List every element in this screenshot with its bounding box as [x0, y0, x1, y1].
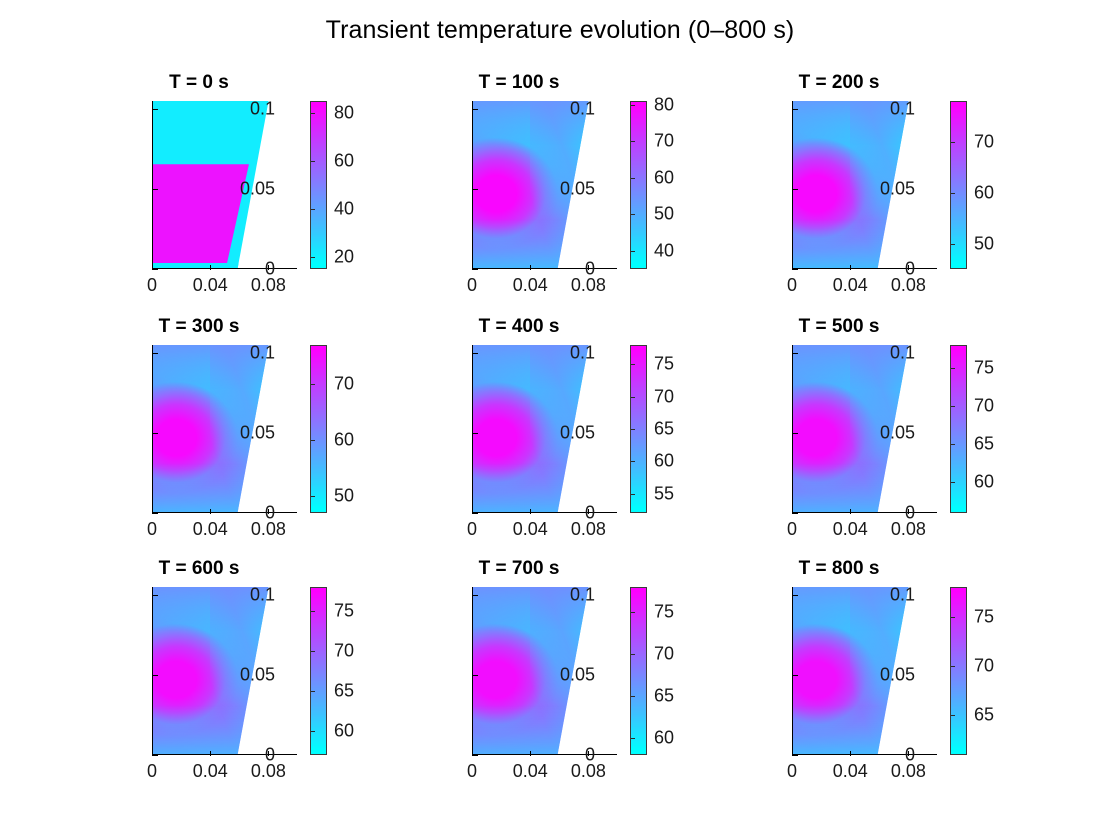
- subplot-panel-700s: T = 700 s00.040.0800.050.160657075: [420, 558, 720, 788]
- subplot-title: T = 0 s: [100, 72, 298, 94]
- x-tick-label: 0: [467, 275, 477, 296]
- y-tick-label: 0.1: [250, 343, 275, 364]
- y-axis-line: [472, 345, 473, 513]
- y-tick: [793, 755, 798, 756]
- y-tick-label: 0.05: [880, 179, 915, 200]
- y-tick-label: 0.1: [570, 343, 595, 364]
- y-tick-label: 0: [585, 503, 595, 524]
- axes-800s: 00.040.0800.050.1: [792, 587, 923, 755]
- y-tick-label: 0.1: [570, 99, 595, 120]
- colorbar-tick: [311, 496, 315, 497]
- y-axis-line: [792, 587, 793, 755]
- subplot-title: T = 300 s: [100, 316, 298, 338]
- colorbar-tick: [311, 731, 315, 732]
- colorbar-tick: [311, 611, 315, 612]
- y-tick: [153, 755, 158, 756]
- y-tick-label: 0: [905, 745, 915, 766]
- colorbar-tick-label: 50: [974, 233, 994, 254]
- colorbar-tick-label: 60: [654, 167, 674, 188]
- y-tick-label: 0.05: [560, 665, 595, 686]
- x-tick-label: 0.04: [513, 761, 548, 782]
- y-tick-label: 0.05: [880, 423, 915, 444]
- y-tick: [473, 433, 478, 434]
- x-axis-line: [152, 268, 297, 269]
- colorbar-tick-label: 80: [334, 103, 354, 124]
- subplot-title: T = 600 s: [100, 558, 298, 580]
- subplot-panel-500s: T = 500 s00.040.0800.050.160657075: [740, 316, 1040, 546]
- axes-300s: 00.040.0800.050.1: [152, 345, 283, 513]
- y-axis-line: [792, 101, 793, 269]
- x-tick-label: 0: [787, 275, 797, 296]
- colorbar-tick: [631, 696, 635, 697]
- y-tick: [153, 269, 158, 270]
- colorbar-tick-label: 70: [654, 131, 674, 152]
- colorbar-tick-label: 60: [974, 182, 994, 203]
- subplot-panel-0s: T = 0 s00.040.0800.050.120406080: [100, 72, 400, 302]
- x-tick: [210, 509, 211, 514]
- y-axis-line: [472, 101, 473, 269]
- x-axis-line: [472, 512, 617, 513]
- subplot-panel-100s: T = 100 s00.040.0800.050.14050607080: [420, 72, 720, 302]
- y-tick-label: 0.05: [240, 423, 275, 444]
- colorbar-tick: [311, 691, 315, 692]
- y-axis-line: [472, 587, 473, 755]
- colorbar-tick: [951, 244, 955, 245]
- colorbar-tick-label: 70: [334, 641, 354, 662]
- colorbar-tick-label: 75: [654, 354, 674, 375]
- axes-100s: 00.040.0800.050.1: [472, 101, 603, 269]
- y-tick: [153, 109, 158, 110]
- x-tick-label: 0: [787, 761, 797, 782]
- x-tick: [530, 751, 531, 756]
- y-tick: [793, 189, 798, 190]
- colorbar-tick: [631, 397, 635, 398]
- y-tick-label: 0.05: [240, 665, 275, 686]
- colorbar-tick: [311, 257, 315, 258]
- colorbar-500s: [950, 345, 967, 513]
- colorbar-tick-label: 70: [974, 131, 994, 152]
- colorbar-100s: [630, 101, 647, 269]
- colorbar-tick: [951, 193, 955, 194]
- y-tick: [473, 513, 478, 514]
- y-tick-label: 0.1: [890, 585, 915, 606]
- y-tick: [473, 269, 478, 270]
- x-tick: [530, 509, 531, 514]
- y-tick-label: 0: [905, 503, 915, 524]
- y-tick: [793, 353, 798, 354]
- subplot-panel-600s: T = 600 s00.040.0800.050.160657075: [100, 558, 400, 788]
- colorbar-tick-label: 70: [334, 374, 354, 395]
- colorbar-tick-label: 65: [334, 681, 354, 702]
- colorbar-tick-label: 75: [654, 602, 674, 623]
- colorbar-tick: [631, 251, 635, 252]
- y-tick: [153, 513, 158, 514]
- x-tick-label: 0.04: [193, 275, 228, 296]
- y-tick: [473, 595, 478, 596]
- colorbar-tick-label: 50: [334, 486, 354, 507]
- colorbar-tick-label: 20: [334, 247, 354, 268]
- y-axis-line: [152, 101, 153, 269]
- axes-500s: 00.040.0800.050.1: [792, 345, 923, 513]
- x-tick-label: 0: [467, 519, 477, 540]
- colorbar-tick: [311, 209, 315, 210]
- y-tick: [793, 269, 798, 270]
- subplot-panel-800s: T = 800 s00.040.0800.050.1657075: [740, 558, 1040, 788]
- y-tick-label: 0.05: [880, 665, 915, 686]
- y-tick-label: 0.1: [250, 99, 275, 120]
- colorbar-tick: [951, 482, 955, 483]
- x-tick-label: 0: [147, 275, 157, 296]
- colorbar-tick-label: 40: [334, 199, 354, 220]
- y-tick: [153, 189, 158, 190]
- y-tick-label: 0.1: [250, 585, 275, 606]
- y-tick: [793, 595, 798, 596]
- x-tick-label: 0: [147, 761, 157, 782]
- y-axis-line: [792, 345, 793, 513]
- colorbar-tick-label: 40: [654, 240, 674, 261]
- colorbar-0s: [310, 101, 327, 269]
- y-tick-label: 0.05: [560, 179, 595, 200]
- colorbar-tick-label: 65: [654, 686, 674, 707]
- x-tick: [850, 509, 851, 514]
- colorbar-tick-label: 60: [334, 721, 354, 742]
- figure-canvas: Transient temperature evolution (0–800 s…: [0, 0, 1120, 840]
- y-tick-label: 0: [585, 259, 595, 280]
- colorbar-tick: [311, 113, 315, 114]
- y-tick-label: 0.1: [570, 585, 595, 606]
- subplot-panel-400s: T = 400 s00.040.0800.050.15560657075: [420, 316, 720, 546]
- subplot-title: T = 500 s: [740, 316, 938, 338]
- colorbar-tick-label: 70: [654, 644, 674, 665]
- colorbar-tick-label: 60: [654, 728, 674, 749]
- colorbar-tick-label: 75: [334, 601, 354, 622]
- x-axis-line: [792, 754, 937, 755]
- colorbar-tick: [631, 738, 635, 739]
- y-tick: [153, 675, 158, 676]
- colorbar-tick-label: 80: [654, 94, 674, 115]
- x-axis-line: [472, 754, 617, 755]
- colorbar-tick: [631, 364, 635, 365]
- x-axis-line: [472, 268, 617, 269]
- y-tick: [153, 595, 158, 596]
- subplot-panel-200s: T = 200 s00.040.0800.050.1506070: [740, 72, 1040, 302]
- colorbar-tick-label: 70: [974, 396, 994, 417]
- colorbar-tick: [631, 612, 635, 613]
- colorbar-tick: [951, 444, 955, 445]
- colorbar-tick: [951, 406, 955, 407]
- colorbar-tick-label: 75: [974, 357, 994, 378]
- colorbar-tick-label: 70: [974, 656, 994, 677]
- x-tick: [850, 751, 851, 756]
- y-tick-label: 0: [265, 259, 275, 280]
- axes-600s: 00.040.0800.050.1: [152, 587, 283, 755]
- y-tick: [473, 189, 478, 190]
- colorbar-tick-label: 75: [974, 606, 994, 627]
- x-tick-label: 0: [147, 519, 157, 540]
- colorbar-tick: [631, 214, 635, 215]
- colorbar-tick-label: 65: [974, 705, 994, 726]
- colorbar-tick: [631, 141, 635, 142]
- colorbar-tick-label: 65: [654, 419, 674, 440]
- colorbar-tick: [951, 715, 955, 716]
- y-tick: [153, 433, 158, 434]
- figure-title: Transient temperature evolution (0–800 s…: [0, 16, 1120, 45]
- subplot-panel-300s: T = 300 s00.040.0800.050.1506070: [100, 316, 400, 546]
- colorbar-tick: [631, 429, 635, 430]
- subplot-title: T = 200 s: [740, 72, 938, 94]
- colorbar-tick: [311, 384, 315, 385]
- y-tick: [793, 675, 798, 676]
- colorbar-tick: [311, 161, 315, 162]
- colorbar-tick: [631, 105, 635, 106]
- x-axis-line: [792, 512, 937, 513]
- colorbar-600s: [310, 587, 327, 755]
- axes-400s: 00.040.0800.050.1: [472, 345, 603, 513]
- colorbar-tick-label: 70: [654, 386, 674, 407]
- x-tick: [530, 265, 531, 270]
- axes-200s: 00.040.0800.050.1: [792, 101, 923, 269]
- colorbar-tick: [311, 440, 315, 441]
- colorbar-tick-label: 50: [654, 204, 674, 225]
- y-tick-label: 0: [905, 259, 915, 280]
- x-axis-line: [792, 268, 937, 269]
- y-tick-label: 0.1: [890, 99, 915, 120]
- x-tick: [210, 265, 211, 270]
- y-tick: [473, 353, 478, 354]
- subplot-title: T = 100 s: [420, 72, 618, 94]
- y-tick-label: 0.05: [560, 423, 595, 444]
- y-tick: [473, 755, 478, 756]
- colorbar-tick-label: 60: [654, 451, 674, 472]
- x-tick: [210, 751, 211, 756]
- colorbar-tick: [311, 651, 315, 652]
- y-tick: [473, 675, 478, 676]
- subplot-title: T = 400 s: [420, 316, 618, 338]
- y-tick: [793, 433, 798, 434]
- y-tick: [473, 109, 478, 110]
- colorbar-tick: [951, 368, 955, 369]
- x-axis-line: [152, 512, 297, 513]
- subplot-title: T = 800 s: [740, 558, 938, 580]
- colorbar-tick-label: 60: [334, 151, 354, 172]
- axes-0s: 00.040.0800.050.1: [152, 101, 283, 269]
- axes-700s: 00.040.0800.050.1: [472, 587, 603, 755]
- colorbar-tick-label: 55: [654, 483, 674, 504]
- x-tick-label: 0.04: [513, 519, 548, 540]
- y-tick: [153, 353, 158, 354]
- colorbar-tick: [631, 461, 635, 462]
- x-tick-label: 0.04: [833, 761, 868, 782]
- x-tick-label: 0: [787, 519, 797, 540]
- y-tick-label: 0.05: [240, 179, 275, 200]
- colorbar-800s: [950, 587, 967, 755]
- colorbar-tick: [951, 617, 955, 618]
- x-tick-label: 0.04: [193, 519, 228, 540]
- y-tick-label: 0: [265, 745, 275, 766]
- colorbar-tick: [951, 142, 955, 143]
- colorbar-tick-label: 65: [974, 434, 994, 455]
- x-tick-label: 0.04: [193, 761, 228, 782]
- colorbar-tick: [631, 494, 635, 495]
- y-tick: [793, 109, 798, 110]
- colorbar-tick-label: 60: [974, 472, 994, 493]
- x-tick-label: 0.04: [513, 275, 548, 296]
- y-tick: [793, 513, 798, 514]
- x-tick: [850, 265, 851, 270]
- colorbar-tick: [951, 666, 955, 667]
- colorbar-300s: [310, 345, 327, 513]
- x-tick-label: 0.04: [833, 519, 868, 540]
- x-tick-label: 0.04: [833, 275, 868, 296]
- y-tick-label: 0.1: [890, 343, 915, 364]
- y-axis-line: [152, 587, 153, 755]
- subplot-title: T = 700 s: [420, 558, 618, 580]
- x-tick-label: 0: [467, 761, 477, 782]
- y-tick-label: 0: [265, 503, 275, 524]
- x-axis-line: [152, 754, 297, 755]
- colorbar-tick: [631, 178, 635, 179]
- colorbar-tick-label: 60: [334, 430, 354, 451]
- y-axis-line: [152, 345, 153, 513]
- colorbar-tick: [631, 654, 635, 655]
- y-tick-label: 0: [585, 745, 595, 766]
